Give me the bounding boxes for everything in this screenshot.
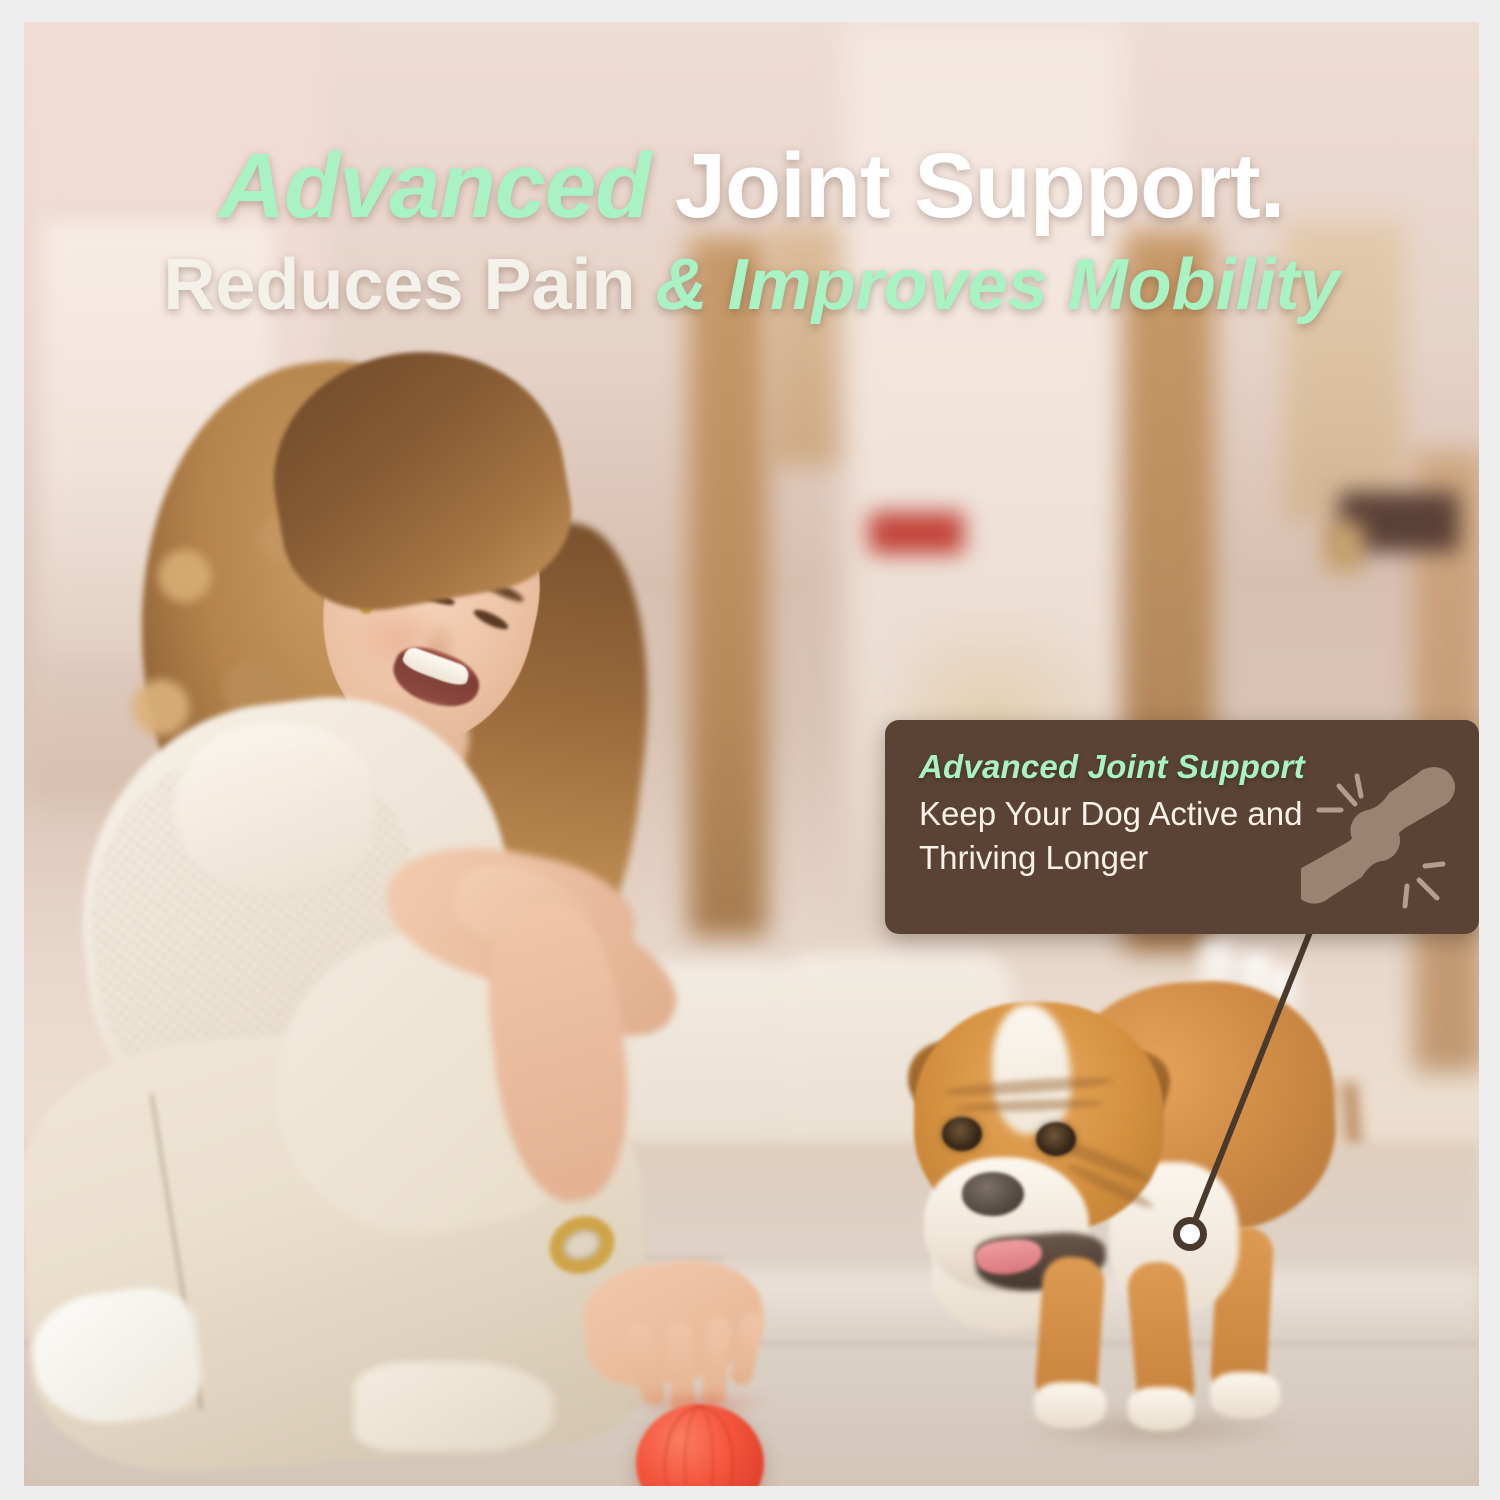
wooden-shelf-column-4 xyxy=(1284,222,1404,522)
dog-nose xyxy=(962,1172,1024,1216)
dog-eye-left xyxy=(942,1117,982,1151)
dog-paw-1 xyxy=(1034,1382,1106,1428)
shelf-object-tan xyxy=(1324,522,1364,572)
dog-eye-right xyxy=(1036,1122,1076,1156)
sneaker-right xyxy=(354,1362,554,1452)
bulldog-figure xyxy=(884,972,1334,1442)
dog-paw-2 xyxy=(1128,1387,1194,1431)
sleeve xyxy=(174,722,374,892)
dog-paw-3 xyxy=(1210,1372,1280,1418)
shelf-object-red xyxy=(869,512,964,554)
screenshot-root: Advanced Joint Support. Reduces Pain & I… xyxy=(0,0,1500,1500)
callout-body-line-1: Keep Your Dog Active and xyxy=(919,792,1349,836)
joint-support-callout-card[interactable]: Advanced Joint Support Keep Your Dog Act… xyxy=(885,720,1479,934)
product-lifestyle-photo: Advanced Joint Support. Reduces Pain & I… xyxy=(24,22,1479,1486)
callout-body-line-2: Thriving Longer xyxy=(919,836,1349,880)
joint-bones-icon xyxy=(1301,758,1471,918)
